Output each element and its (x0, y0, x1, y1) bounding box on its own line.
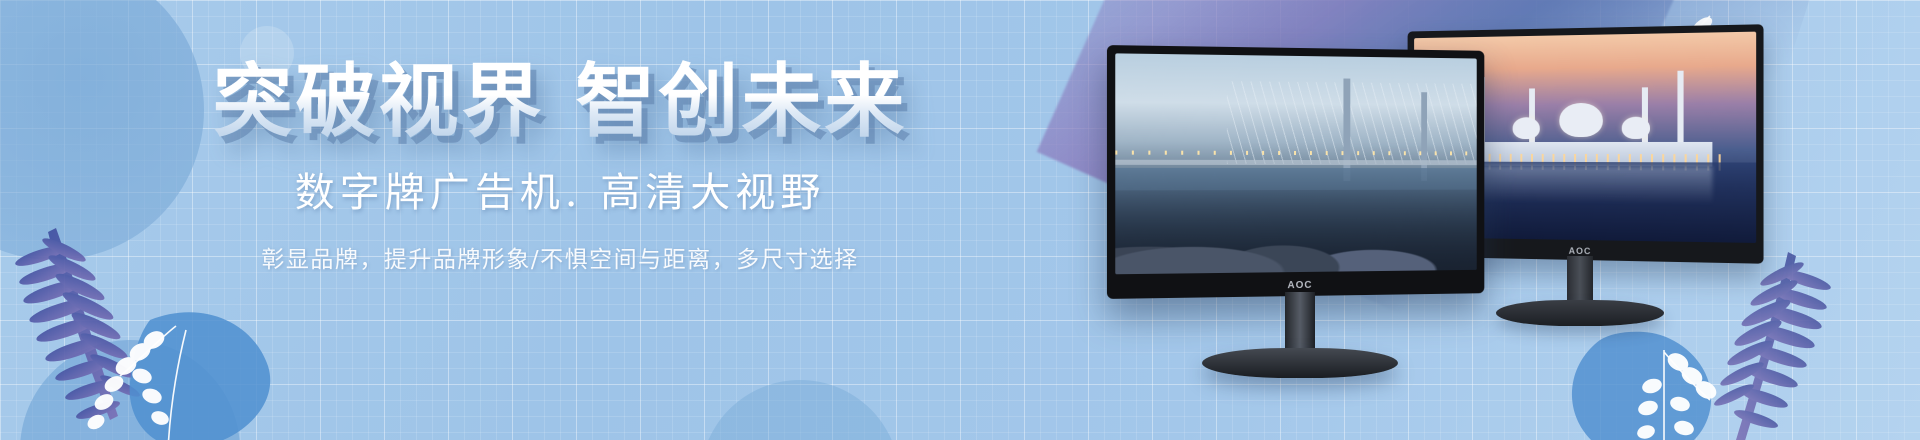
banner-text-block: 突破视界 智创未来 数字牌广告机. 高清大视野 彰显品牌，提升品牌形象/不惧空间… (210, 60, 910, 274)
monitor-front-screen (1115, 53, 1476, 274)
banner-subtitle: 数字牌广告机. 高清大视野 (210, 160, 910, 218)
monitor-back-stand-base (1496, 300, 1664, 326)
monitor-back-brand-logo: AOC (1569, 246, 1592, 256)
promo-banner: AOC AOC (0, 0, 1920, 440)
banner-tagline: 彰显品牌，提升品牌形象/不惧空间与距离，多尺寸选择 (210, 240, 910, 274)
decor-circle-top-left (0, 0, 204, 260)
decor-circle-bottom-left (20, 340, 240, 440)
banner-headline: 突破视界 智创未来 (210, 60, 910, 144)
monitor-front-bezel: AOC (1107, 45, 1484, 299)
decor-circle-bottom-center (700, 380, 900, 440)
product-monitors: AOC AOC (1120, 0, 1920, 440)
monitor-front: AOC (1110, 48, 1490, 296)
bridge-scene-image (1115, 53, 1476, 274)
monitor-front-stand-base (1202, 348, 1398, 378)
monitor-front-brand-logo: AOC (1287, 280, 1312, 291)
